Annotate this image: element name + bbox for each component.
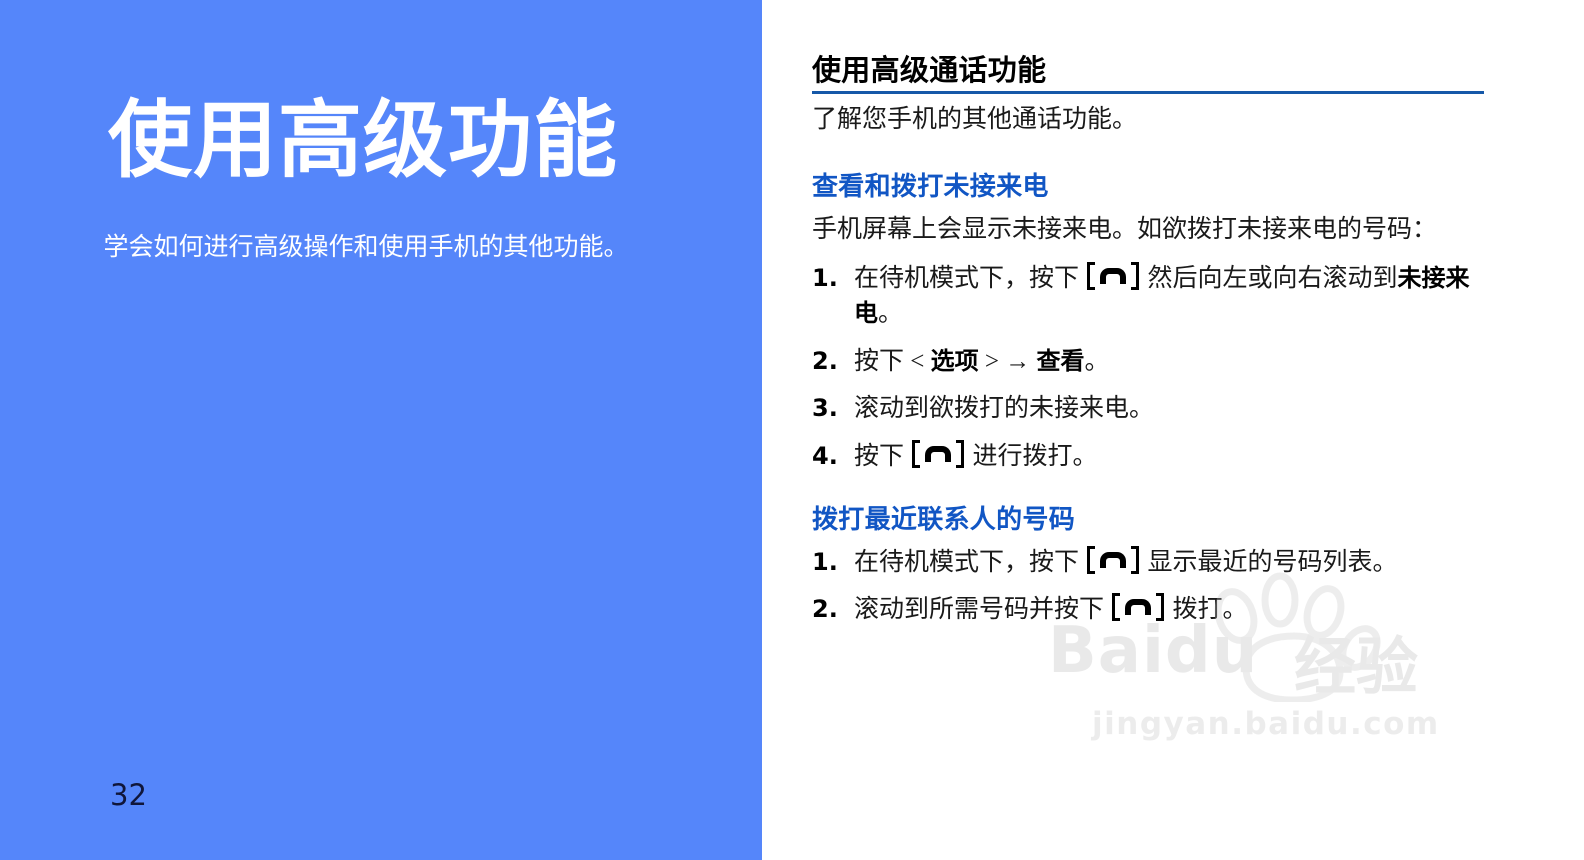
content-panel: 使用高级通话功能 了解您手机的其他通话功能。 查看和拨打未接来电手机屏幕上会显示… bbox=[762, 0, 1584, 860]
call-key-icon bbox=[1087, 548, 1139, 574]
title-divider bbox=[812, 91, 1484, 94]
content-section: 查看和拨打未接来电手机屏幕上会显示未接来电。如欲拨打未接来电的号码：1.在待机模… bbox=[812, 171, 1488, 474]
content-column: 使用高级通话功能 了解您手机的其他通话功能。 查看和拨打未接来电手机屏幕上会显示… bbox=[812, 52, 1488, 640]
step-number: 1. bbox=[812, 261, 848, 295]
step-item: 4.按下 进行拨打。 bbox=[812, 439, 1488, 475]
subsection-heading: 拨打最近联系人的号码 bbox=[812, 504, 1488, 537]
manual-page: 使用高级功能 学会如何进行高级操作和使用手机的其他功能。 32 使用高级通话功能… bbox=[0, 0, 1584, 860]
step-item: 1.在待机模式下，按下 显示最近的号码列表。 bbox=[812, 545, 1488, 581]
watermark-url: jingyan.baidu.com bbox=[1092, 706, 1440, 742]
step-emphasis: 未接来电 bbox=[854, 264, 1470, 328]
step-emphasis: 查看 bbox=[1036, 347, 1084, 375]
step-number: 2. bbox=[812, 344, 848, 378]
call-key-icon bbox=[1087, 264, 1139, 290]
section-title: 使用高级通话功能 bbox=[812, 52, 1488, 88]
subsection-paragraph: 手机屏幕上会显示未接来电。如欲拨打未接来电的号码： bbox=[812, 212, 1488, 247]
sections-host: 查看和拨打未接来电手机屏幕上会显示未接来电。如欲拨打未接来电的号码：1.在待机模… bbox=[812, 171, 1488, 628]
step-item: 1.在待机模式下，按下 然后向左或向右滚动到未接来电。 bbox=[812, 261, 1488, 332]
section-intro: 了解您手机的其他通话功能。 bbox=[812, 103, 1488, 137]
chapter-title: 使用高级功能 bbox=[0, 96, 726, 184]
step-list: 1.在待机模式下，按下 然后向左或向右滚动到未接来电。2.按下 < 选项 > →… bbox=[812, 261, 1488, 475]
step-number: 3. bbox=[812, 391, 848, 425]
step-number: 1. bbox=[812, 545, 848, 579]
step-list: 1.在待机模式下，按下 显示最近的号码列表。2.滚动到所需号码并按下 拨打。 bbox=[812, 545, 1488, 628]
step-item: 2.滚动到所需号码并按下 拨打。 bbox=[812, 592, 1488, 628]
step-number: 4. bbox=[812, 439, 848, 473]
call-key-icon bbox=[912, 442, 964, 468]
step-item: 3.滚动到欲拨打的未接来电。 bbox=[812, 391, 1488, 427]
page-number: 32 bbox=[110, 778, 147, 812]
chapter-cover-panel: 使用高级功能 学会如何进行高级操作和使用手机的其他功能。 32 bbox=[0, 0, 762, 860]
step-emphasis: 选项 bbox=[931, 347, 979, 375]
subsection-heading: 查看和拨打未接来电 bbox=[812, 171, 1488, 204]
step-number: 2. bbox=[812, 592, 848, 626]
content-section: 拨打最近联系人的号码1.在待机模式下，按下 显示最近的号码列表。2.滚动到所需号… bbox=[812, 504, 1488, 628]
call-key-icon bbox=[1112, 595, 1164, 621]
step-item: 2.按下 < 选项 > → 查看。 bbox=[812, 344, 1488, 380]
chapter-subtitle: 学会如何进行高级操作和使用手机的其他功能。 bbox=[0, 232, 732, 265]
